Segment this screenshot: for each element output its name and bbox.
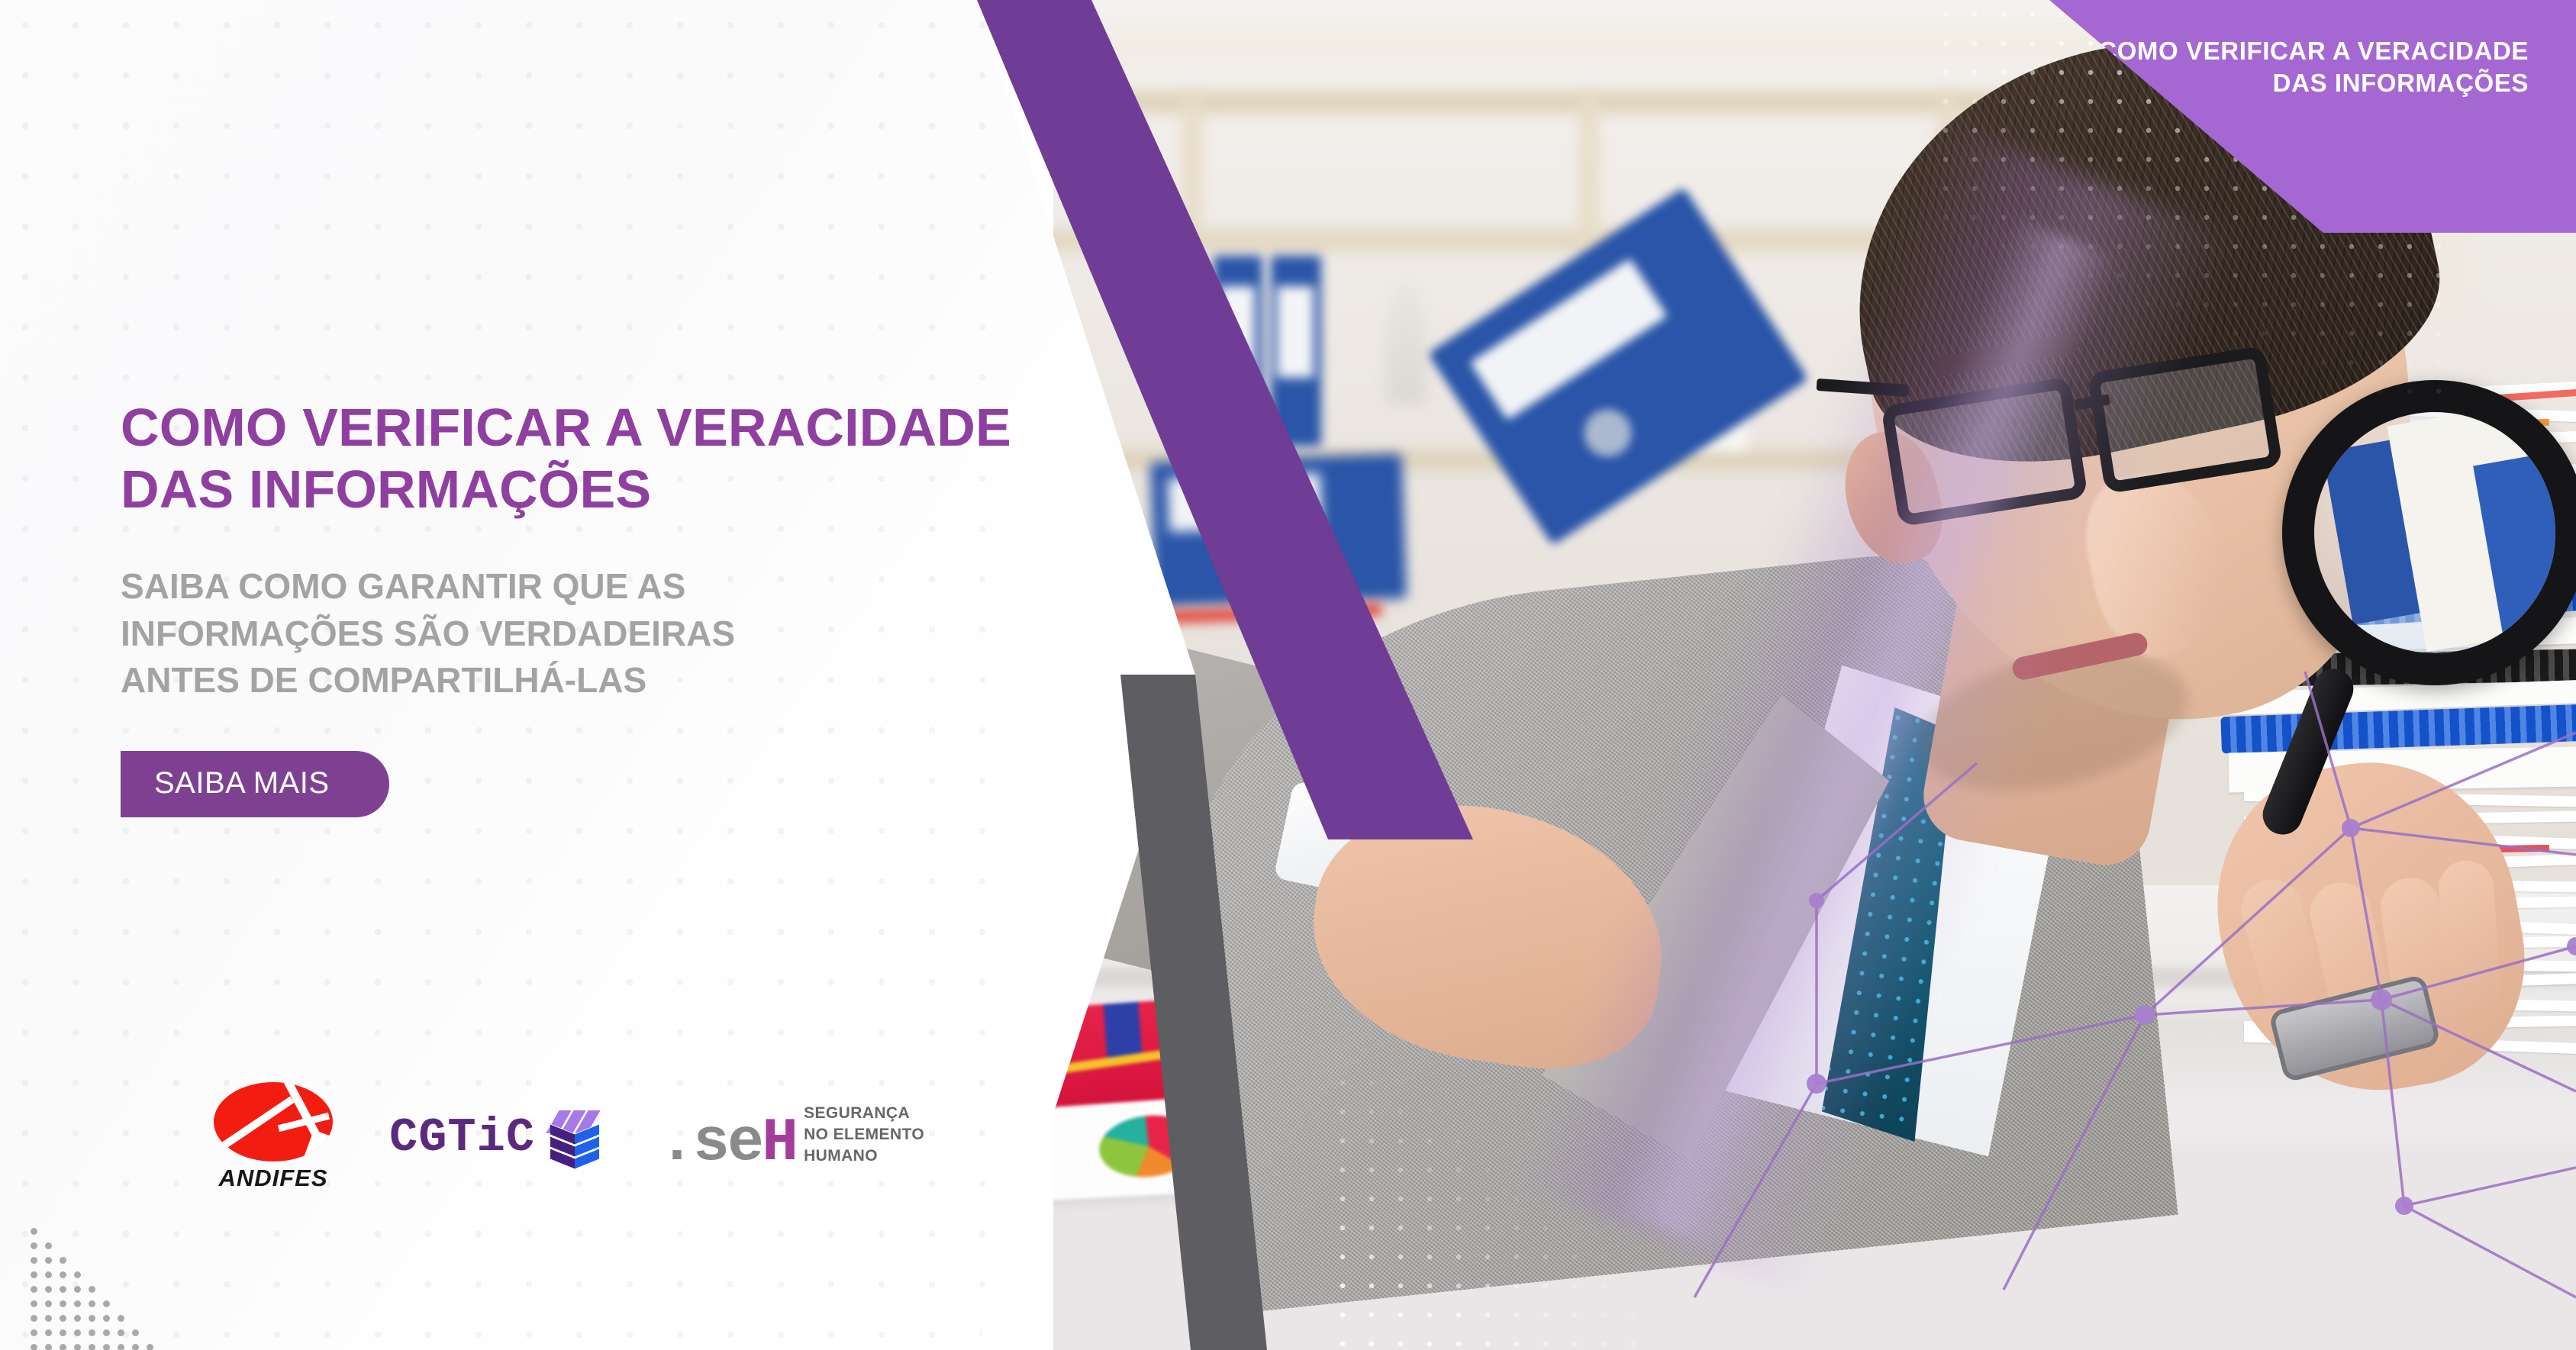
corner-dot	[103, 1329, 110, 1336]
corner-dot	[45, 1344, 52, 1350]
corner-dot	[118, 1344, 124, 1350]
page-subtitle: SAIBA COMO GARANTIR QUE AS INFORMAÇÕES S…	[121, 563, 846, 704]
logo-cgtic[interactable]: CGTiC	[389, 1109, 602, 1165]
seh-h: H	[762, 1109, 796, 1178]
corner-dot	[89, 1315, 95, 1322]
corner-dot	[118, 1315, 124, 1322]
andifes-ellipse-a-icon	[214, 1082, 333, 1162]
corner-dot	[31, 1344, 37, 1350]
corner-dot	[31, 1315, 37, 1322]
saiba-mais-button[interactable]: SAIBA MAIS	[121, 751, 389, 817]
corner-dot	[89, 1344, 95, 1350]
andifes-wordmark: ANDIFES	[218, 1165, 327, 1192]
corner-dot	[45, 1242, 52, 1249]
corner-dot	[74, 1300, 81, 1307]
corner-dot	[74, 1344, 81, 1350]
corner-dot	[60, 1315, 66, 1322]
corner-dot	[60, 1286, 66, 1293]
seh-wordmark: .seH	[659, 1116, 796, 1171]
corner-dot	[31, 1286, 37, 1293]
corner-dot	[31, 1271, 37, 1278]
partner-logos: ANDIFES CGTiC .seH SEGURANÇA NO ELEMENTO…	[214, 1082, 924, 1192]
corner-dot	[89, 1329, 95, 1336]
corner-dot	[45, 1271, 52, 1278]
corner-dot	[45, 1300, 52, 1307]
corner-dot-pattern	[31, 1228, 176, 1335]
corner-dot	[103, 1315, 110, 1322]
corner-dot	[45, 1286, 52, 1293]
corner-dot	[147, 1344, 153, 1350]
corner-dot	[89, 1286, 95, 1293]
corner-dot	[31, 1242, 37, 1249]
corner-dot	[31, 1329, 37, 1336]
page-title: COMO VERIFICAR A VERACIDADE DAS INFORMAÇ…	[121, 397, 1021, 520]
seh-tagline-line-3: HUMANO	[804, 1147, 878, 1165]
corner-dot	[103, 1300, 110, 1307]
promo-banner: COMO VERIFICAR A VERACIDADE DAS INFORMAÇ…	[0, 0, 2576, 1350]
corner-dot	[132, 1344, 139, 1350]
logo-seh[interactable]: .seH SEGURANÇA NO ELEMENTO HUMANO	[659, 1103, 924, 1171]
corner-dot	[74, 1271, 81, 1278]
rubiks-cube-icon	[546, 1109, 602, 1165]
corner-dot	[60, 1300, 66, 1307]
corner-dot	[31, 1228, 37, 1235]
corner-dot	[103, 1344, 110, 1350]
corner-dot	[89, 1300, 95, 1307]
corner-dot	[74, 1329, 81, 1336]
magnifying-glass-icon	[2282, 380, 2576, 685]
cgtic-wordmark: CGTiC	[389, 1110, 535, 1165]
corner-dot	[60, 1271, 66, 1278]
seh-tagline: SEGURANÇA NO ELEMENTO HUMANO	[804, 1103, 924, 1171]
seh-tagline-line-1: SEGURANÇA	[804, 1104, 910, 1122]
corner-dot	[45, 1329, 52, 1336]
corner-dot	[74, 1286, 81, 1293]
headline-block: COMO VERIFICAR A VERACIDADE DAS INFORMAÇ…	[121, 397, 1021, 817]
corner-dot	[74, 1315, 81, 1322]
corner-dot	[31, 1300, 37, 1307]
dot-grid-overlay-bottom	[1328, 1068, 1649, 1350]
seh-dot: .	[659, 1109, 693, 1178]
corner-dot	[60, 1257, 66, 1264]
corner-dot	[60, 1344, 66, 1350]
seh-se: se	[693, 1109, 762, 1178]
corner-dot	[60, 1329, 66, 1336]
corner-dot	[45, 1257, 52, 1264]
corner-dot	[31, 1257, 37, 1264]
corner-dot	[132, 1329, 139, 1336]
seh-tagline-line-2: NO ELEMENTO	[804, 1126, 924, 1143]
logo-andifes[interactable]: ANDIFES	[214, 1082, 333, 1192]
corner-dot	[45, 1315, 52, 1322]
corner-dot	[118, 1329, 124, 1336]
